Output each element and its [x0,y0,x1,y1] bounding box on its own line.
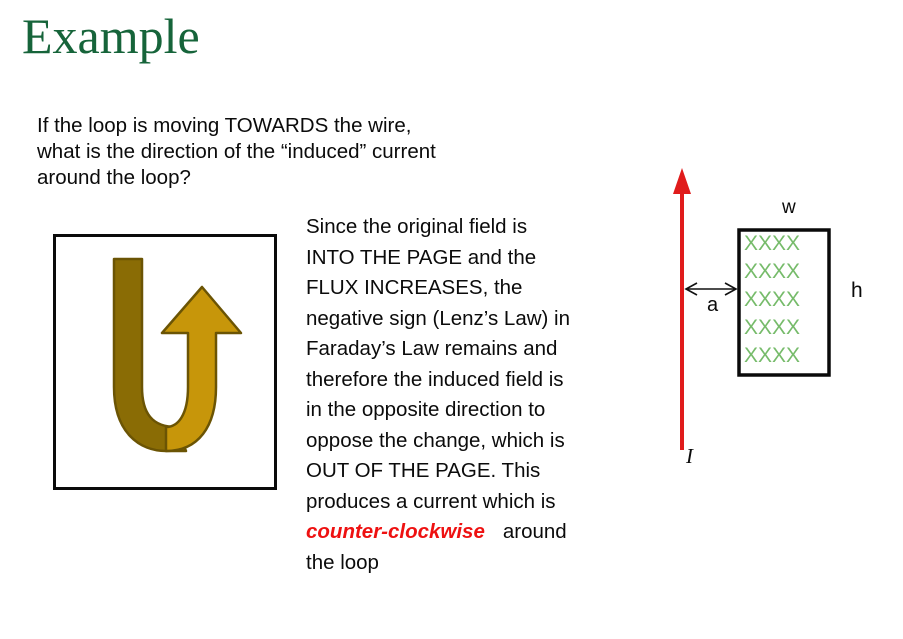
explanation-line: in the opposite direction to [306,395,636,426]
current-label: I [686,447,693,466]
field-into-page-row: XXXX [744,261,800,282]
distance-label: a [707,296,718,315]
explanation-line: Faraday’s Law remains and [306,334,636,365]
counter-clockwise-emphasis: counter-clockwise [306,520,485,543]
explanation-after-highlight: around [503,520,567,543]
explanation-line: produces a current which is [306,487,636,518]
explanation-line: FLUX INCREASES, the [306,273,636,304]
question-line: what is the direction of the “induced” c… [37,139,557,165]
question-line: If the loop is moving TOWARDS the wire, [37,113,557,139]
loop-direction-image-box [53,234,277,490]
explanation-line: negative sign (Lenz’s Law) in [306,304,636,335]
field-into-page-row: XXXX [744,317,800,338]
explanation-line: OUT OF THE PAGE. This [306,456,636,487]
page-title: Example [22,6,200,66]
question-line: around the loop? [37,165,557,191]
up-arrow-icon [673,168,691,450]
field-into-page-row: XXXX [744,289,800,310]
explanation-highlight-line: counter-clockwisearound [306,517,636,548]
explanation-line: the loop [306,548,636,579]
width-label: w [782,198,796,217]
field-into-page-row: XXXX [744,233,800,254]
u-turn-arrow-icon [56,237,274,487]
height-label: h [851,281,863,300]
explanation-text-block: Since the original field is INTO THE PAG… [306,212,636,578]
question-text-block: If the loop is moving TOWARDS the wire, … [37,113,557,191]
explanation-line: oppose the change, which is [306,426,636,457]
field-into-page-row: XXXX [744,345,800,366]
explanation-line: therefore the induced field is [306,365,636,396]
explanation-line: INTO THE PAGE and the [306,243,636,274]
explanation-line: Since the original field is [306,212,636,243]
